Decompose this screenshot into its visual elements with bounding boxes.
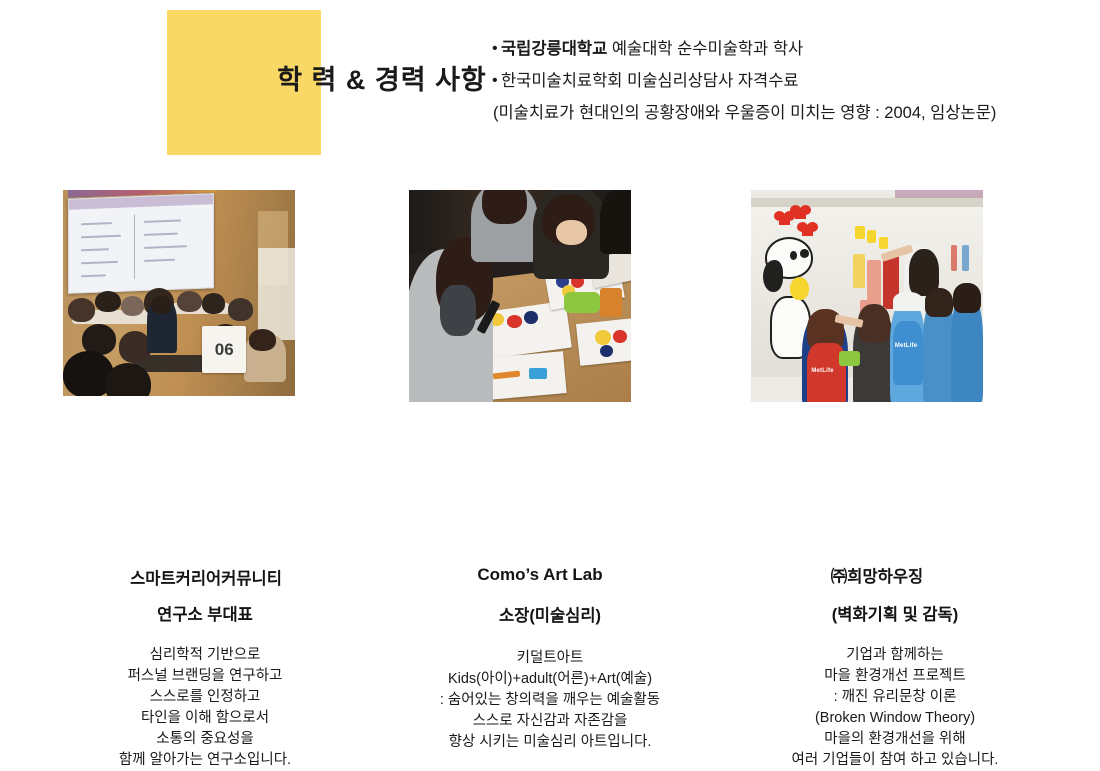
bullet-icon: •: [492, 33, 501, 65]
credential-line: 한국미술치료학회 미술심리상담사 자격수료: [501, 65, 799, 97]
snoopy-ear: [763, 260, 784, 292]
description-line: 마을의 환경개선을 위해: [745, 729, 1045, 750]
woodstock-bird: [790, 277, 809, 300]
credential-detail: 예술대학 순수미술학과 학사: [607, 40, 803, 58]
vest-brand-label: MetLife: [895, 343, 917, 349]
credential-institution: 국립강릉대학교: [501, 40, 607, 58]
table-number-card: 06: [202, 326, 246, 373]
list-item: • 국립강릉대학교 예술대학 순수미술학과 학사: [492, 33, 1062, 65]
description-line: Kids(아이)+adult(어른)+Art(예술): [400, 669, 700, 690]
role-title: (벽화기획 및 감독): [745, 601, 1045, 625]
description-line: : 깨진 유리문창 이론: [745, 687, 1045, 708]
description-line: 키덜트아트: [400, 648, 700, 669]
description-line: 스스로를 인정하고: [55, 687, 355, 708]
description-line: 심리학적 기반으로: [55, 645, 355, 666]
org-name-badge: 스마트커리어커뮤니티: [97, 566, 315, 594]
description-line: 타인을 이해 함으로서: [55, 708, 355, 729]
description-block-2: 키덜트아트 Kids(아이)+adult(어른)+Art(예술) : 숨어있는 …: [400, 648, 700, 753]
vest-brand-label: MetLife: [811, 368, 833, 374]
profile-column-1: 06 스마트커리어커뮤니티 연구소 부대표 심리학적 기반으로 퍼스널 브랜딩을…: [55, 190, 355, 396]
snoopy-nose: [800, 249, 809, 257]
org-name-badge: Como’s Art Lab: [466, 562, 614, 592]
description-line: (Broken Window Theory): [745, 708, 1045, 729]
audience-crowd: [63, 277, 295, 396]
description-line: 향상 시키는 미술심리 아트입니다.: [400, 732, 700, 753]
kids-art-class-photo: [409, 190, 631, 402]
profile-column-3: MetLife MetLife ㈜희망하우징 (벽화기획 및 감독) 기업과 함…: [745, 190, 1045, 402]
description-line: 여러 기업들이 참여 하고 있습니다.: [745, 750, 1045, 771]
description-line: 마을 환경개선 프로젝트: [745, 666, 1045, 687]
credential-note: (미술치료가 현대인의 공황장애와 우울증이 미치는 영향 : 2004, 임상…: [492, 97, 1062, 129]
description-block-3: 기업과 함께하는 마을 환경개선 프로젝트 : 깨진 유리문창 이론 (Brok…: [745, 645, 1045, 771]
slide-root: 학 력 & 경력 사항 • 국립강릉대학교 예술대학 순수미술학과 학사 • 한…: [0, 0, 1100, 618]
description-line: 퍼스널 브랜딩을 연구하고: [55, 666, 355, 687]
bullet-icon: •: [492, 65, 501, 97]
role-title: 연구소 부대표: [55, 601, 355, 625]
seminar-room-photo: 06: [63, 190, 295, 396]
profile-column-2: Como’s Art Lab 소장(미술심리) 키덜트아트 Kids(아이)+a…: [400, 190, 700, 402]
role-title: 소장(미술심리): [400, 602, 700, 626]
org-name-badge: ㈜희망하우징: [797, 564, 957, 592]
credential-line: 국립강릉대학교 예술대학 순수미술학과 학사: [501, 33, 803, 65]
description-line: : 숨어있는 창의력을 깨우는 예술활동: [400, 690, 700, 711]
description-line: 소통의 중요성을: [55, 729, 355, 750]
description-line: 기업과 함께하는: [745, 645, 1045, 666]
description-line: 스스로 자신감과 자존감을: [400, 711, 700, 732]
description-block-1: 심리학적 기반으로 퍼스널 브랜딩을 연구하고 스스로를 인정하고 타인을 이해…: [55, 645, 355, 771]
credentials-list: • 국립강릉대학교 예술대학 순수미술학과 학사 • 한국미술치료학회 미술심리…: [492, 33, 1062, 129]
description-line: 함께 알아가는 연구소입니다.: [55, 750, 355, 771]
wall-cap: [751, 198, 983, 206]
volunteer-vest: [893, 321, 923, 385]
mural-painting-volunteers-photo: MetLife MetLife: [751, 190, 983, 402]
list-item: • 한국미술치료학회 미술심리상담사 자격수료: [492, 65, 1062, 97]
